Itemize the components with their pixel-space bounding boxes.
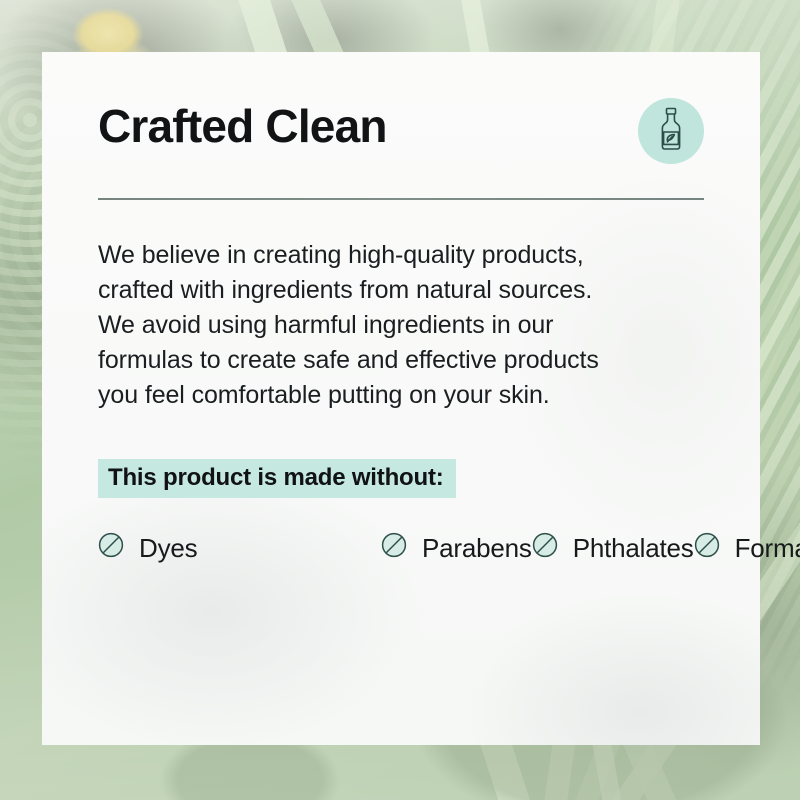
made-without-heading: This product is made without:	[98, 459, 456, 498]
prohibition-icon	[98, 532, 124, 563]
body-copy: We believe in creating high-quality prod…	[98, 238, 698, 413]
bottle-leaf-icon	[651, 106, 691, 157]
prohibition-icon	[381, 532, 407, 563]
card-header: Crafted Clean	[98, 96, 704, 164]
prohibition-icon	[532, 532, 558, 563]
page-title: Crafted Clean	[98, 96, 387, 150]
body-line: We believe in creating high-quality prod…	[98, 238, 698, 273]
exclusion-label: Phthalates	[573, 535, 694, 561]
list-item: Formaldehyde	[694, 532, 800, 563]
prohibition-icon	[694, 532, 720, 563]
list-item: Parabens	[381, 532, 532, 563]
body-line: formulas to create safe and effective pr…	[98, 343, 698, 378]
exclusion-label: Formaldehyde	[735, 535, 800, 561]
exclusion-label: Parabens	[422, 535, 532, 561]
clean-badge	[638, 98, 704, 164]
made-without-section: This product is made without:	[98, 459, 704, 498]
content-card: Crafted Clean	[42, 52, 760, 745]
title-divider	[98, 198, 704, 200]
list-item: Dyes	[98, 532, 381, 563]
body-line: We avoid using harmful ingredients in ou…	[98, 308, 698, 343]
body-line: you feel comfortable putting on your ski…	[98, 378, 698, 413]
exclusion-list: Dyes Parabens Phthalat	[98, 524, 704, 572]
list-item: Phthalates	[532, 532, 694, 563]
body-line: crafted with ingredients from natural so…	[98, 273, 698, 308]
exclusion-label: Dyes	[139, 535, 197, 561]
botanical-background: Crafted Clean	[0, 0, 800, 800]
